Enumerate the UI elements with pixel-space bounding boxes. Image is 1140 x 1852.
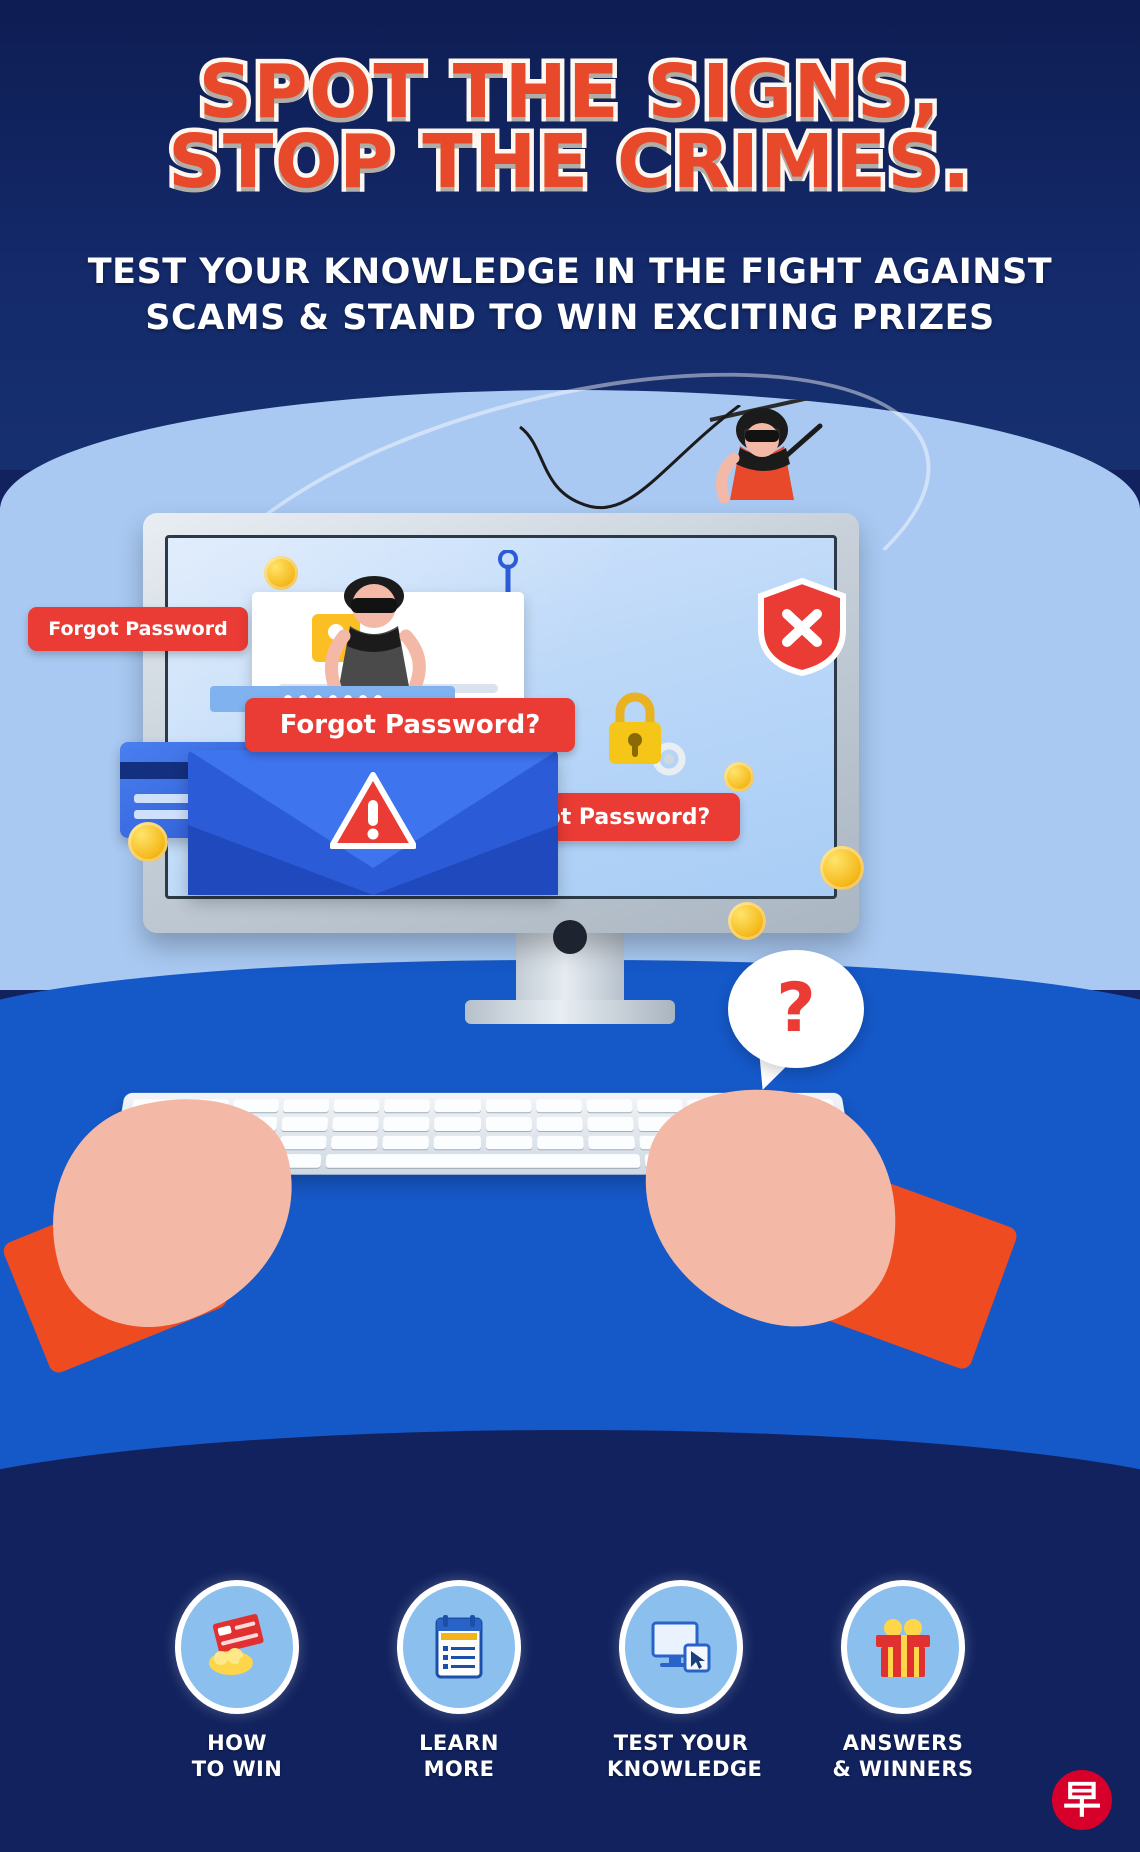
nav-answers-winners-circle[interactable]: [841, 1580, 965, 1714]
zaobao-logo-glyph: 早: [1063, 1781, 1101, 1819]
zaobao-logo: 早: [1052, 1770, 1112, 1830]
forgot-password-button-left[interactable]: Forgot Password: [28, 607, 248, 651]
nav-answers-winners[interactable]: ANSWERS & WINNERS: [829, 1580, 977, 1783]
headline-line-2: STOP THE CRIMES.: [0, 128, 1140, 198]
monitor-power-dot: [553, 920, 587, 954]
warning-triangle-icon: [330, 772, 416, 850]
nav-how-to-win-circle[interactable]: [175, 1580, 299, 1714]
monitor-base: [465, 1000, 675, 1024]
nav-test-your-knowledge[interactable]: TEST YOUR KNOWLEDGE: [607, 1580, 755, 1783]
nav-learn-more-label: LEARN MORE: [385, 1730, 533, 1783]
padlock-icon: [604, 690, 666, 768]
monitor-cursor-icon: [641, 1607, 721, 1687]
nav-how-to-win-label: HOW TO WIN: [163, 1730, 311, 1783]
coin-icon: [820, 846, 864, 890]
nav-answers-winners-label: ANSWERS & WINNERS: [829, 1730, 977, 1783]
gift-box-icon: [863, 1607, 943, 1687]
page-subtitle: TEST YOUR KNOWLEDGE IN THE FIGHT AGAINST…: [0, 250, 1140, 341]
nav-how-to-win[interactable]: HOW TO WIN: [163, 1580, 311, 1783]
coin-icon: [128, 822, 168, 862]
question-bubble-icon: ?: [728, 950, 864, 1068]
nav-test-your-knowledge-label: TEST YOUR KNOWLEDGE: [607, 1730, 755, 1783]
question-mark: ?: [776, 975, 815, 1043]
forgot-password-button-center[interactable]: Forgot Password?: [245, 698, 575, 752]
phisher-icon: [700, 400, 830, 530]
subtitle-line-1: TEST YOUR KNOWLEDGE IN THE FIGHT AGAINST: [0, 250, 1140, 296]
coin-icon: [264, 556, 298, 590]
nav-learn-more[interactable]: LEARN MORE: [385, 1580, 533, 1783]
voucher-coins-icon: [197, 1607, 277, 1687]
coin-icon: [724, 762, 754, 792]
subtitle-line-2: SCAMS & STAND TO WIN EXCITING PRIZES: [0, 296, 1140, 342]
nav-test-your-knowledge-circle[interactable]: [619, 1580, 743, 1714]
bottom-nav: HOW TO WIN LEARN MORE: [0, 1580, 1140, 1783]
headline-line-1: SPOT THE SIGNS,: [0, 58, 1140, 128]
poster-root: SPOT THE SIGNS, STOP THE CRIMES. TEST YO…: [0, 0, 1140, 1852]
coin-icon: [728, 902, 766, 940]
clipboard-icon: [419, 1607, 499, 1687]
nav-learn-more-circle[interactable]: [397, 1580, 521, 1714]
shield-x-icon: [756, 578, 848, 676]
page-title: SPOT THE SIGNS, STOP THE CRIMES.: [0, 58, 1140, 197]
